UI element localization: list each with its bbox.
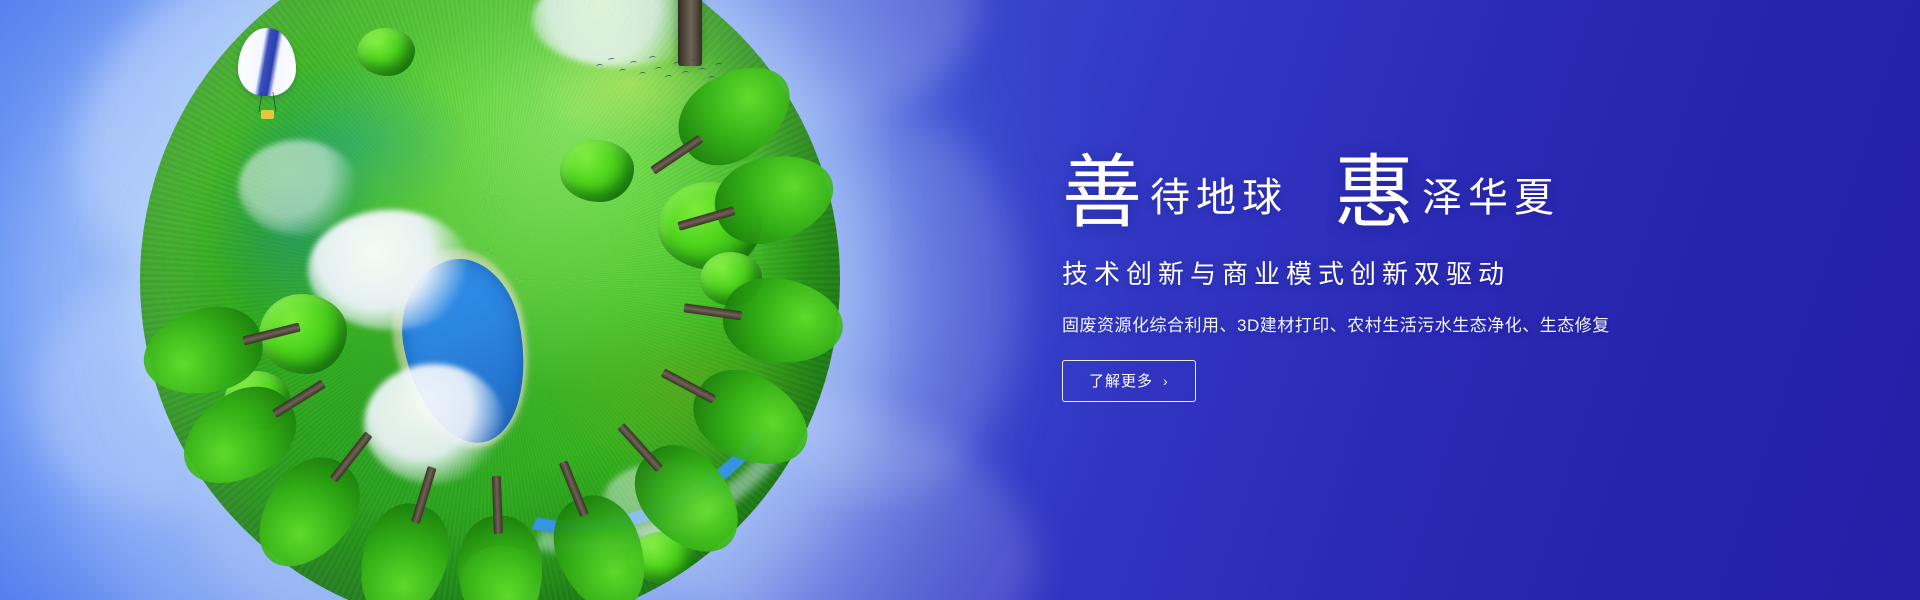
headline-phrase-2: 泽华夏 (1414, 178, 1560, 218)
learn-more-button[interactable]: 了解更多 › (1062, 360, 1196, 402)
cloud-icon (364, 364, 504, 484)
hot-air-balloon-icon (238, 28, 296, 124)
bush-icon (357, 28, 415, 76)
banner-description: 固废资源化综合利用、3D建材打印、农村生活污水生态净化、生态修复 (1062, 311, 1822, 336)
headline-phrase-1: 待地球 (1142, 178, 1288, 218)
banner-content: 善 待地球 惠 泽华夏 技术创新与商业模式创新双驱动 固废资源化综合利用、3D建… (1062, 150, 1822, 402)
headline-char-2: 惠 (1334, 156, 1414, 230)
cloud-icon (238, 140, 358, 235)
page-title: 善 待地球 惠 泽华夏 (1062, 150, 1822, 224)
learn-more-label: 了解更多 (1089, 370, 1153, 391)
bush-icon (560, 140, 634, 202)
banner-subtitle: 技术创新与商业模式创新双驱动 (1062, 254, 1822, 291)
hero-banner: 善 待地球 惠 泽华夏 技术创新与商业模式创新双驱动 固废资源化综合利用、3D建… (0, 0, 1920, 600)
bird-flock-icon (592, 50, 722, 90)
chevron-right-icon: › (1163, 373, 1169, 389)
headline-char-1: 善 (1062, 156, 1142, 230)
